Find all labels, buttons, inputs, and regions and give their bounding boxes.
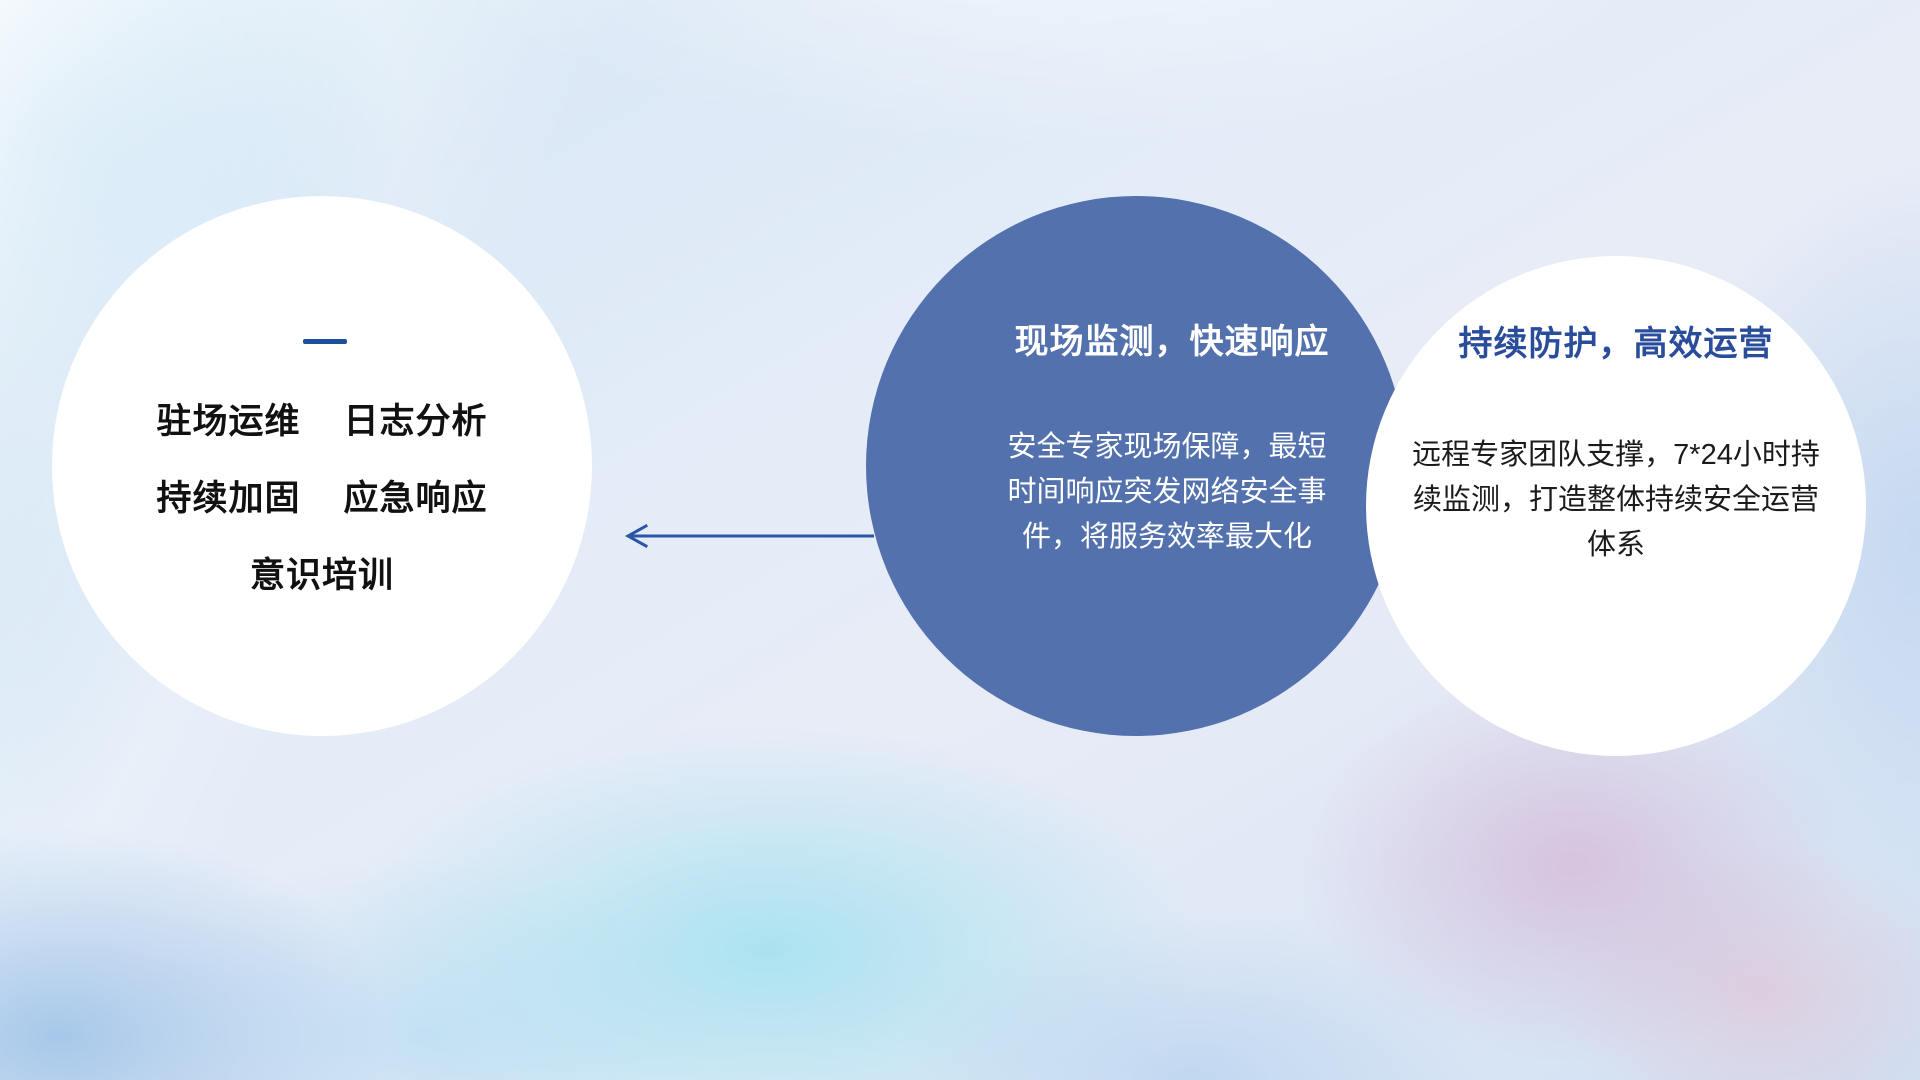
capability-line-3: 意识培训: [250, 558, 394, 593]
center-circle-body: 安全专家现场保障，最短时间响应突发网络安全事件，将服务效率最大化: [1002, 425, 1332, 560]
divider-rule: [303, 339, 347, 344]
onsite-monitoring-circle[interactable]: 现场监测，快速响应 安全专家现场保障，最短时间响应突发网络安全事件，将服务效率最…: [866, 196, 1406, 736]
right-circle-body: 远程专家团队支撑，7*24小时持续监测，打造整体持续安全运营体系: [1411, 433, 1821, 568]
capability-line-2: 持续加固 应急响应: [157, 481, 488, 516]
left-pointing-arrow: [612, 524, 874, 548]
continuous-protection-circle[interactable]: 持续防护，高效运营 远程专家团队支撑，7*24小时持续监测，打造整体持续安全运营…: [1366, 256, 1866, 756]
capability-line-1: 驻场运维 日志分析: [157, 404, 488, 439]
service-capability-circle[interactable]: 驻场运维 日志分析 持续加固 应急响应 意识培训: [52, 196, 592, 736]
center-circle-title: 现场监测，快速响应: [1015, 314, 1330, 363]
right-circle-title: 持续防护，高效运营: [1459, 316, 1774, 365]
slide-canvas: 现场监测，快速响应 安全专家现场保障，最短时间响应突发网络安全事件，将服务效率最…: [0, 0, 1920, 1080]
